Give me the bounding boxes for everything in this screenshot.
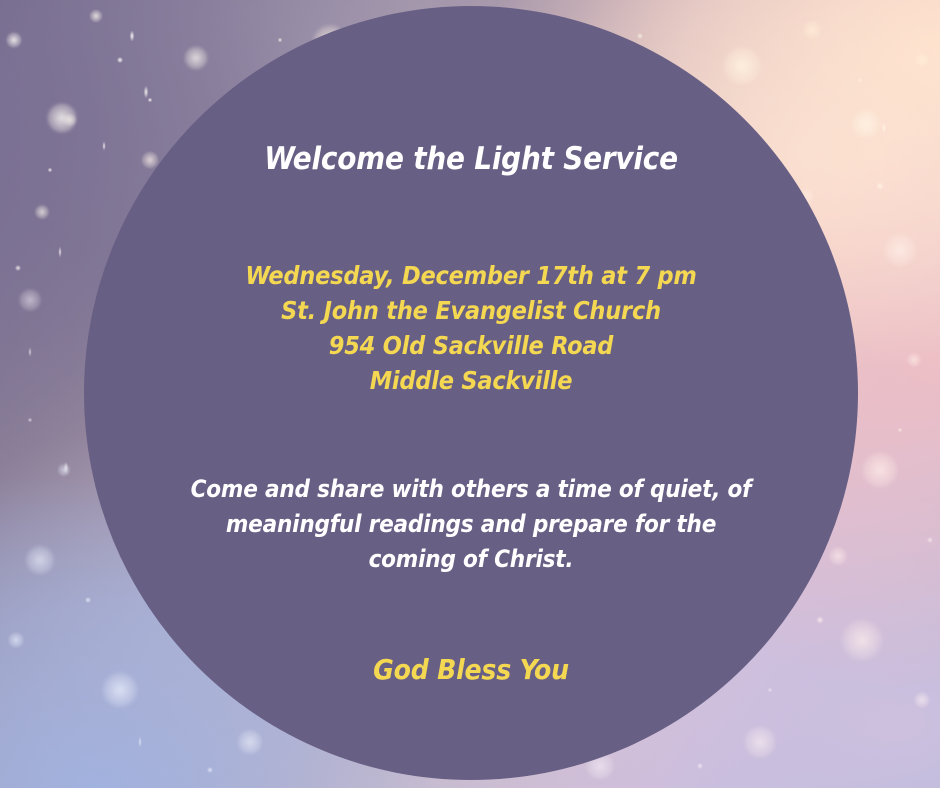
event-details: Wednesday, December 17th at 7 pm St. Joh… — [84, 258, 858, 398]
invitation-line-2: meaningful readings and prepare for the — [126, 507, 816, 542]
poster-content: Welcome the Light Service Wednesday, Dec… — [84, 6, 858, 780]
event-venue: St. John the Evangelist Church — [84, 293, 858, 328]
poster-title: Welcome the Light Service — [84, 140, 858, 178]
invitation-line-1: Come and share with others a time of qui… — [126, 472, 816, 507]
event-locality: Middle Sackville — [84, 363, 858, 398]
blessing-text: God Bless You — [84, 652, 858, 688]
invitation-message: Come and share with others a time of qui… — [84, 472, 858, 577]
event-street-address: 954 Old Sackville Road — [84, 328, 858, 363]
event-date-time: Wednesday, December 17th at 7 pm — [84, 258, 858, 293]
invitation-line-3: coming of Christ. — [126, 542, 816, 577]
event-poster: Welcome the Light Service Wednesday, Dec… — [0, 0, 940, 788]
